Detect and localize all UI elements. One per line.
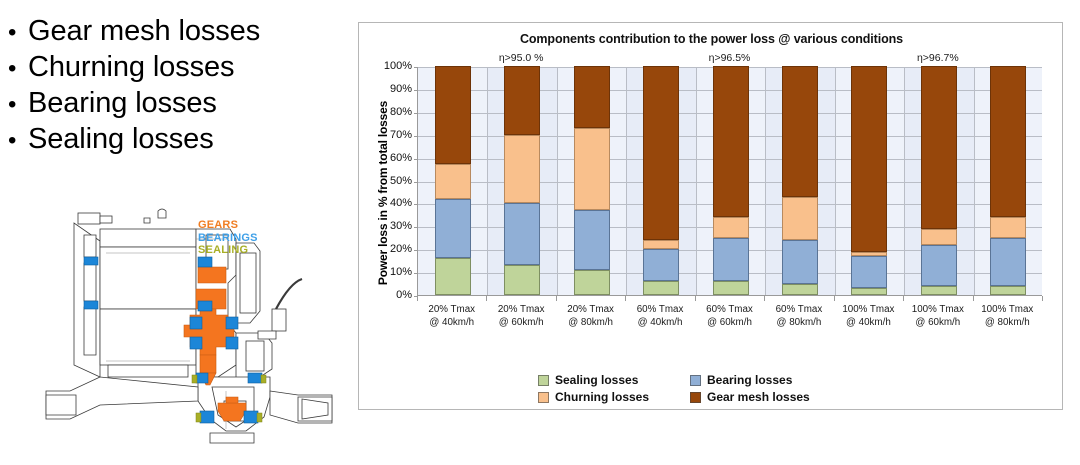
category-label-line2: @ 40km/h	[429, 317, 474, 328]
bar-segment[interactable]	[713, 217, 749, 238]
loss-types-bullet-list: • Gear mesh losses • Churning losses • B…	[8, 14, 348, 158]
grid-line-vertical	[696, 67, 697, 295]
bar-segment[interactable]	[504, 203, 540, 265]
x-axis-category-label: 20% Tmax@ 80km/h	[552, 303, 630, 329]
x-axis-category-label: 60% Tmax@ 40km/h	[621, 303, 699, 329]
y-axis-tick	[414, 250, 418, 251]
legend-swatch-sealing-icon	[538, 375, 549, 386]
bar-segment[interactable]	[713, 238, 749, 282]
bar-stack[interactable]	[713, 66, 749, 295]
bullet-label: Churning losses	[28, 50, 234, 85]
y-axis-tick-label: 60%	[390, 152, 412, 164]
bullet-label: Bearing losses	[28, 86, 217, 121]
gearbox-cross-section-drawing	[40, 205, 340, 455]
bullet-marker-icon: •	[8, 15, 28, 50]
x-axis-tick	[1042, 296, 1043, 301]
y-axis-tick	[414, 136, 418, 137]
bar-segment[interactable]	[921, 245, 957, 286]
category-label-line1: 20% Tmax	[428, 304, 475, 315]
chart-title: Components contribution to the power los…	[359, 32, 1064, 46]
grid-line-vertical	[765, 67, 766, 295]
y-axis-tick-label: 20%	[390, 243, 412, 255]
category-label-line1: 100% Tmax	[842, 304, 894, 315]
bar-stack[interactable]	[643, 66, 679, 295]
bar-segment[interactable]	[782, 197, 818, 241]
category-label-line1: 60% Tmax	[706, 304, 753, 315]
x-axis-tick	[973, 296, 974, 301]
y-axis-tick-label: 80%	[390, 106, 412, 118]
category-label-line2: @ 60km/h	[499, 317, 544, 328]
x-axis-tick	[695, 296, 696, 301]
x-axis-category-label: 20% Tmax@ 40km/h	[413, 303, 491, 329]
gearbox-cross-section-svg	[40, 205, 340, 455]
bar-segment[interactable]	[851, 66, 887, 251]
x-axis-tick	[486, 296, 487, 301]
bar-stack[interactable]	[504, 66, 540, 295]
x-axis-category-label: 100% Tmax@ 60km/h	[899, 303, 977, 329]
grid-line-vertical	[487, 67, 488, 295]
y-axis-tick-label: 10%	[390, 266, 412, 278]
bar-segment[interactable]	[990, 217, 1026, 238]
category-label-line2: @ 60km/h	[707, 317, 752, 328]
y-axis-tick	[414, 113, 418, 114]
y-axis-title: Power loss in % from total losses	[376, 83, 390, 303]
y-axis-tick	[414, 204, 418, 205]
cad-key-gears: GEARS	[198, 219, 258, 232]
bullet-label: Sealing losses	[28, 122, 214, 157]
cad-key-bearings: BEARINGS	[198, 232, 258, 245]
chart-panel: Components contribution to the power los…	[358, 22, 1063, 410]
y-axis-tick-label: 30%	[390, 220, 412, 232]
efficiency-annotation: η>95.0 %	[461, 52, 581, 64]
x-axis-tick	[903, 296, 904, 301]
y-axis-tick	[414, 159, 418, 160]
x-axis-tick	[417, 296, 418, 301]
plot-wrapper: 0%10%20%30%40%50%60%70%80%90%100% 20% Tm…	[417, 67, 1042, 311]
category-label-line1: 60% Tmax	[776, 304, 823, 315]
bar-segment[interactable]	[782, 240, 818, 284]
grid-line-vertical	[835, 67, 836, 295]
y-axis-tick-label: 90%	[390, 83, 412, 95]
category-label-line1: 60% Tmax	[637, 304, 684, 315]
y-axis-tick	[414, 227, 418, 228]
y-axis-tick	[414, 67, 418, 68]
legend-label: Sealing losses	[555, 373, 638, 387]
bar-segment[interactable]	[504, 66, 540, 135]
legend-swatch-gear-mesh-icon	[690, 392, 701, 403]
list-item: • Sealing losses	[8, 122, 348, 158]
bar-segment[interactable]	[782, 66, 818, 197]
bar-segment[interactable]	[435, 164, 471, 198]
grid-line-vertical	[557, 67, 558, 295]
bar-segment[interactable]	[504, 265, 540, 295]
bullet-marker-icon: •	[8, 123, 28, 158]
y-axis-tick	[414, 182, 418, 183]
cad-key-sealing: SEALING	[198, 244, 258, 257]
bar-segment[interactable]	[574, 128, 610, 210]
legend-item-gear-mesh-losses: Gear mesh losses	[690, 390, 860, 404]
legend-item-sealing-losses: Sealing losses	[538, 373, 690, 387]
x-axis-tick	[625, 296, 626, 301]
bar-segment[interactable]	[574, 210, 610, 270]
category-label-line2: @ 60km/h	[915, 317, 960, 328]
bar-stack[interactable]	[851, 66, 887, 295]
bar-segment[interactable]	[435, 199, 471, 259]
bar-segment[interactable]	[643, 281, 679, 295]
y-axis-tick-label: 70%	[390, 129, 412, 141]
list-item: • Churning losses	[8, 50, 348, 86]
bar-stack[interactable]	[921, 66, 957, 295]
bar-segment[interactable]	[990, 238, 1026, 286]
bar-segment[interactable]	[435, 258, 471, 295]
bar-segment[interactable]	[921, 66, 957, 229]
bar-segment[interactable]	[990, 286, 1026, 295]
x-axis-category-label: 100% Tmax@ 40km/h	[829, 303, 907, 329]
bar-segment[interactable]	[713, 281, 749, 295]
bar-segment[interactable]	[851, 288, 887, 295]
category-label-line2: @ 80km/h	[568, 317, 613, 328]
bar-segment[interactable]	[643, 66, 679, 240]
bullet-marker-icon: •	[8, 87, 28, 122]
x-axis-category-label: 60% Tmax@ 80km/h	[760, 303, 838, 329]
bar-segment[interactable]	[990, 66, 1026, 217]
bar-segment[interactable]	[782, 284, 818, 295]
grid-line-vertical	[904, 67, 905, 295]
grid-line-vertical	[626, 67, 627, 295]
legend-swatch-bearing-icon	[690, 375, 701, 386]
bar-segment[interactable]	[435, 66, 471, 164]
legend-label: Bearing losses	[707, 373, 792, 387]
category-label-line1: 20% Tmax	[567, 304, 614, 315]
y-axis-tick	[414, 273, 418, 274]
efficiency-annotations: η>95.0 %η>96.5%η>96.7%	[359, 52, 1064, 66]
bar-segment[interactable]	[851, 256, 887, 288]
chart-legend: Sealing losses Bearing losses Churning l…	[538, 373, 898, 404]
y-axis-tick-label: 100%	[384, 60, 412, 72]
category-label-line2: @ 40km/h	[846, 317, 891, 328]
bar-stack[interactable]	[574, 66, 610, 295]
bar-stack[interactable]	[435, 66, 471, 295]
bullet-label: Gear mesh losses	[28, 14, 260, 49]
left-content-column: • Gear mesh losses • Churning losses • B…	[0, 0, 352, 465]
y-axis-tick	[414, 90, 418, 91]
efficiency-annotation: η>96.7%	[878, 52, 998, 64]
bar-segment[interactable]	[851, 252, 887, 257]
efficiency-annotation: η>96.5%	[670, 52, 790, 64]
bar-segment[interactable]	[643, 240, 679, 249]
plot-area: 0%10%20%30%40%50%60%70%80%90%100%	[417, 67, 1042, 296]
x-axis-tick	[556, 296, 557, 301]
category-label-line2: @ 80km/h	[985, 317, 1030, 328]
y-axis-tick-label: 50%	[390, 175, 412, 187]
category-label-line2: @ 40km/h	[638, 317, 683, 328]
category-label-line1: 100% Tmax	[981, 304, 1033, 315]
x-axis-category-label: 60% Tmax@ 60km/h	[691, 303, 769, 329]
y-axis-tick-label: 40%	[390, 197, 412, 209]
x-axis-category-label: 100% Tmax@ 80km/h	[968, 303, 1046, 329]
bar-segment[interactable]	[921, 286, 957, 295]
bar-segment[interactable]	[504, 135, 540, 204]
legend-swatch-churning-icon	[538, 392, 549, 403]
category-label-line1: 20% Tmax	[498, 304, 545, 315]
x-axis-category-label: 20% Tmax@ 60km/h	[482, 303, 560, 329]
legend-label: Churning losses	[555, 390, 649, 404]
legend-label: Gear mesh losses	[707, 390, 810, 404]
cad-color-key: GEARS BEARINGS SEALING	[198, 219, 258, 257]
x-axis-tick	[764, 296, 765, 301]
y-axis-tick-label: 0%	[396, 289, 412, 301]
bar-stack[interactable]	[782, 66, 818, 295]
grid-line-vertical	[974, 67, 975, 295]
bar-segment[interactable]	[643, 249, 679, 281]
bar-segment[interactable]	[574, 270, 610, 295]
list-item: • Gear mesh losses	[8, 14, 348, 50]
bar-stack[interactable]	[990, 66, 1026, 295]
bar-segment[interactable]	[574, 66, 610, 128]
bar-segment[interactable]	[713, 66, 749, 217]
category-label-line2: @ 80km/h	[777, 317, 822, 328]
category-label-line1: 100% Tmax	[912, 304, 964, 315]
legend-item-bearing-losses: Bearing losses	[690, 373, 860, 387]
x-axis-tick	[834, 296, 835, 301]
legend-item-churning-losses: Churning losses	[538, 390, 690, 404]
list-item: • Bearing losses	[8, 86, 348, 122]
bullet-marker-icon: •	[8, 51, 28, 86]
bar-segment[interactable]	[921, 229, 957, 245]
